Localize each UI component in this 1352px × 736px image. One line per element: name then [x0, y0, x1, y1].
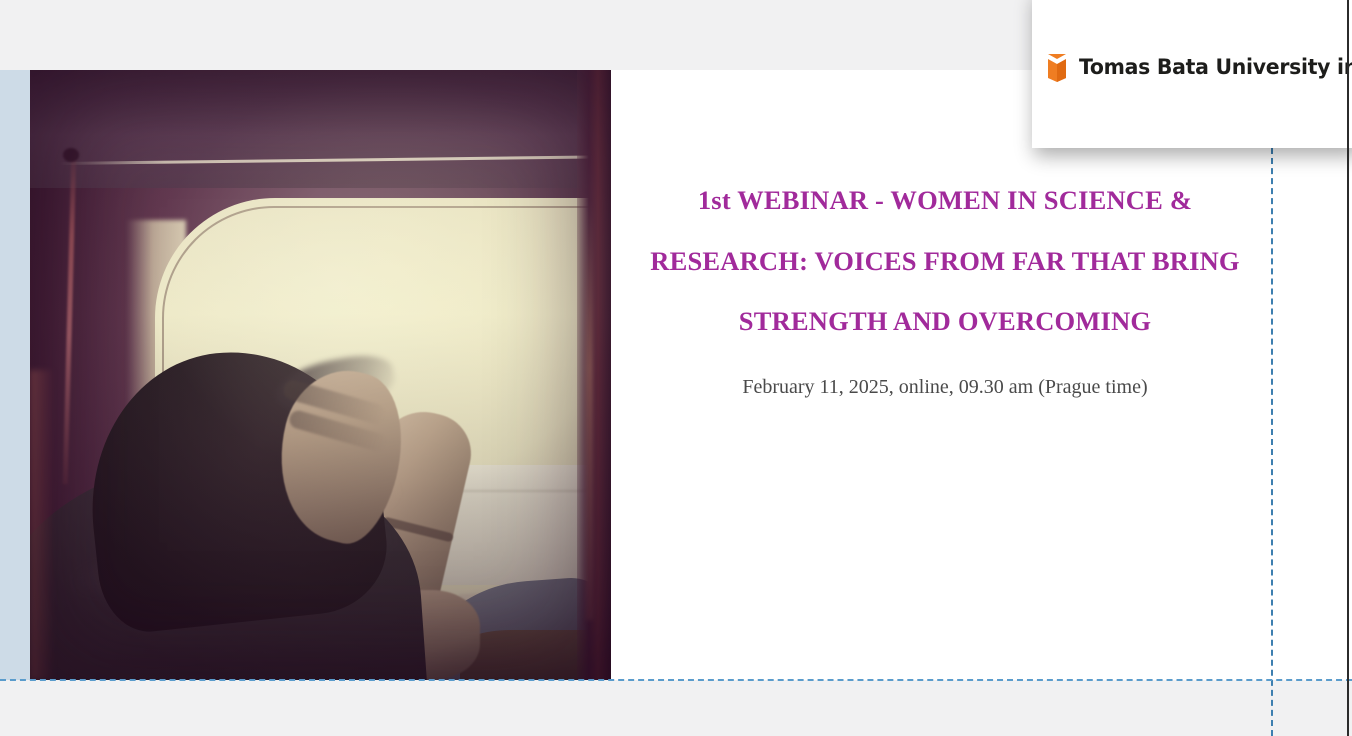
university-logo-panel[interactable]: Tomas Bata University in Zlín [1032, 0, 1352, 148]
presentation-canvas: 1st WEBINAR - WOMEN IN SCIENCE & RESEARC… [0, 0, 1352, 736]
logo-lockup: Tomas Bata University in Zlín [1046, 52, 1352, 82]
slide-text-column: 1st WEBINAR - WOMEN IN SCIENCE & RESEARC… [650, 170, 1240, 400]
slide-left-gutter [0, 70, 30, 680]
event-datetime: February 11, 2025, online, 09.30 am (Pra… [650, 374, 1240, 400]
window-right-edge [1347, 0, 1349, 736]
open-book-icon [1046, 52, 1068, 82]
university-wordmark: Tomas Bata University in Zlín [1079, 55, 1352, 80]
guide-line-vertical[interactable] [1271, 148, 1273, 736]
page-title: 1st WEBINAR - WOMEN IN SCIENCE & RESEARC… [650, 170, 1240, 352]
canvas-below-slide [0, 681, 1352, 736]
photo-vignette [30, 70, 611, 680]
hero-photo [30, 70, 611, 680]
guide-line-horizontal[interactable] [0, 679, 1352, 681]
